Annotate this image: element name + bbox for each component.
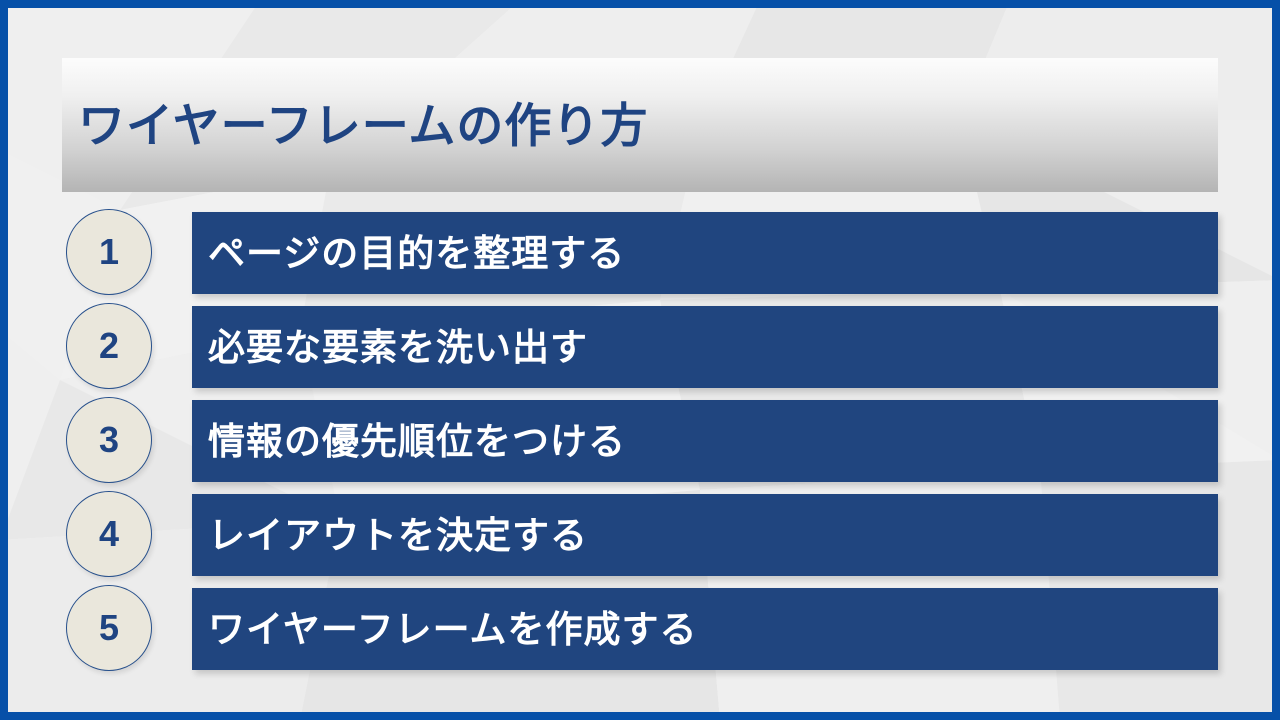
step-label: ページの目的を整理する	[208, 235, 625, 272]
title-band: ワイヤーフレームの作り方	[62, 58, 1218, 192]
step-row[interactable]: 1 ページの目的を整理する	[0, 212, 1280, 294]
step-row[interactable]: 5 ワイヤーフレームを作成する	[0, 588, 1280, 670]
slide-canvas: ワイヤーフレームの作り方 1 ページの目的を整理する 2 必要な要素を洗い出す …	[0, 0, 1280, 720]
page-title: ワイヤーフレームの作り方	[78, 102, 648, 149]
step-label: ワイヤーフレームを作成する	[208, 611, 698, 648]
step-number-badge: 1	[66, 209, 152, 295]
step-number-label: 4	[99, 516, 119, 552]
step-bar[interactable]: ワイヤーフレームを作成する	[192, 588, 1218, 670]
step-row[interactable]: 3 情報の優先順位をつける	[0, 400, 1280, 482]
step-label: 情報の優先順位をつける	[208, 423, 626, 460]
frame-border-left	[0, 0, 8, 720]
step-label: 必要な要素を洗い出す	[208, 329, 588, 366]
step-bar[interactable]: レイアウトを決定する	[192, 494, 1218, 576]
step-number-badge: 4	[66, 491, 152, 577]
step-bar[interactable]: ページの目的を整理する	[192, 212, 1218, 294]
step-number-label: 2	[99, 328, 119, 364]
step-number-label: 5	[99, 610, 119, 646]
step-row[interactable]: 4 レイアウトを決定する	[0, 494, 1280, 576]
step-number-label: 3	[99, 422, 119, 458]
step-bar[interactable]: 情報の優先順位をつける	[192, 400, 1218, 482]
step-number-badge: 3	[66, 397, 152, 483]
frame-border-top	[0, 0, 1280, 8]
step-list: 1 ページの目的を整理する 2 必要な要素を洗い出す 3 情報の優先順位をつける	[0, 212, 1280, 682]
step-number-badge: 2	[66, 303, 152, 389]
step-number-badge: 5	[66, 585, 152, 671]
step-bar[interactable]: 必要な要素を洗い出す	[192, 306, 1218, 388]
frame-border-bottom	[0, 712, 1280, 720]
frame-border-right	[1272, 0, 1280, 720]
step-label: レイアウトを決定する	[208, 517, 588, 554]
step-row[interactable]: 2 必要な要素を洗い出す	[0, 306, 1280, 388]
step-number-label: 1	[99, 234, 119, 270]
